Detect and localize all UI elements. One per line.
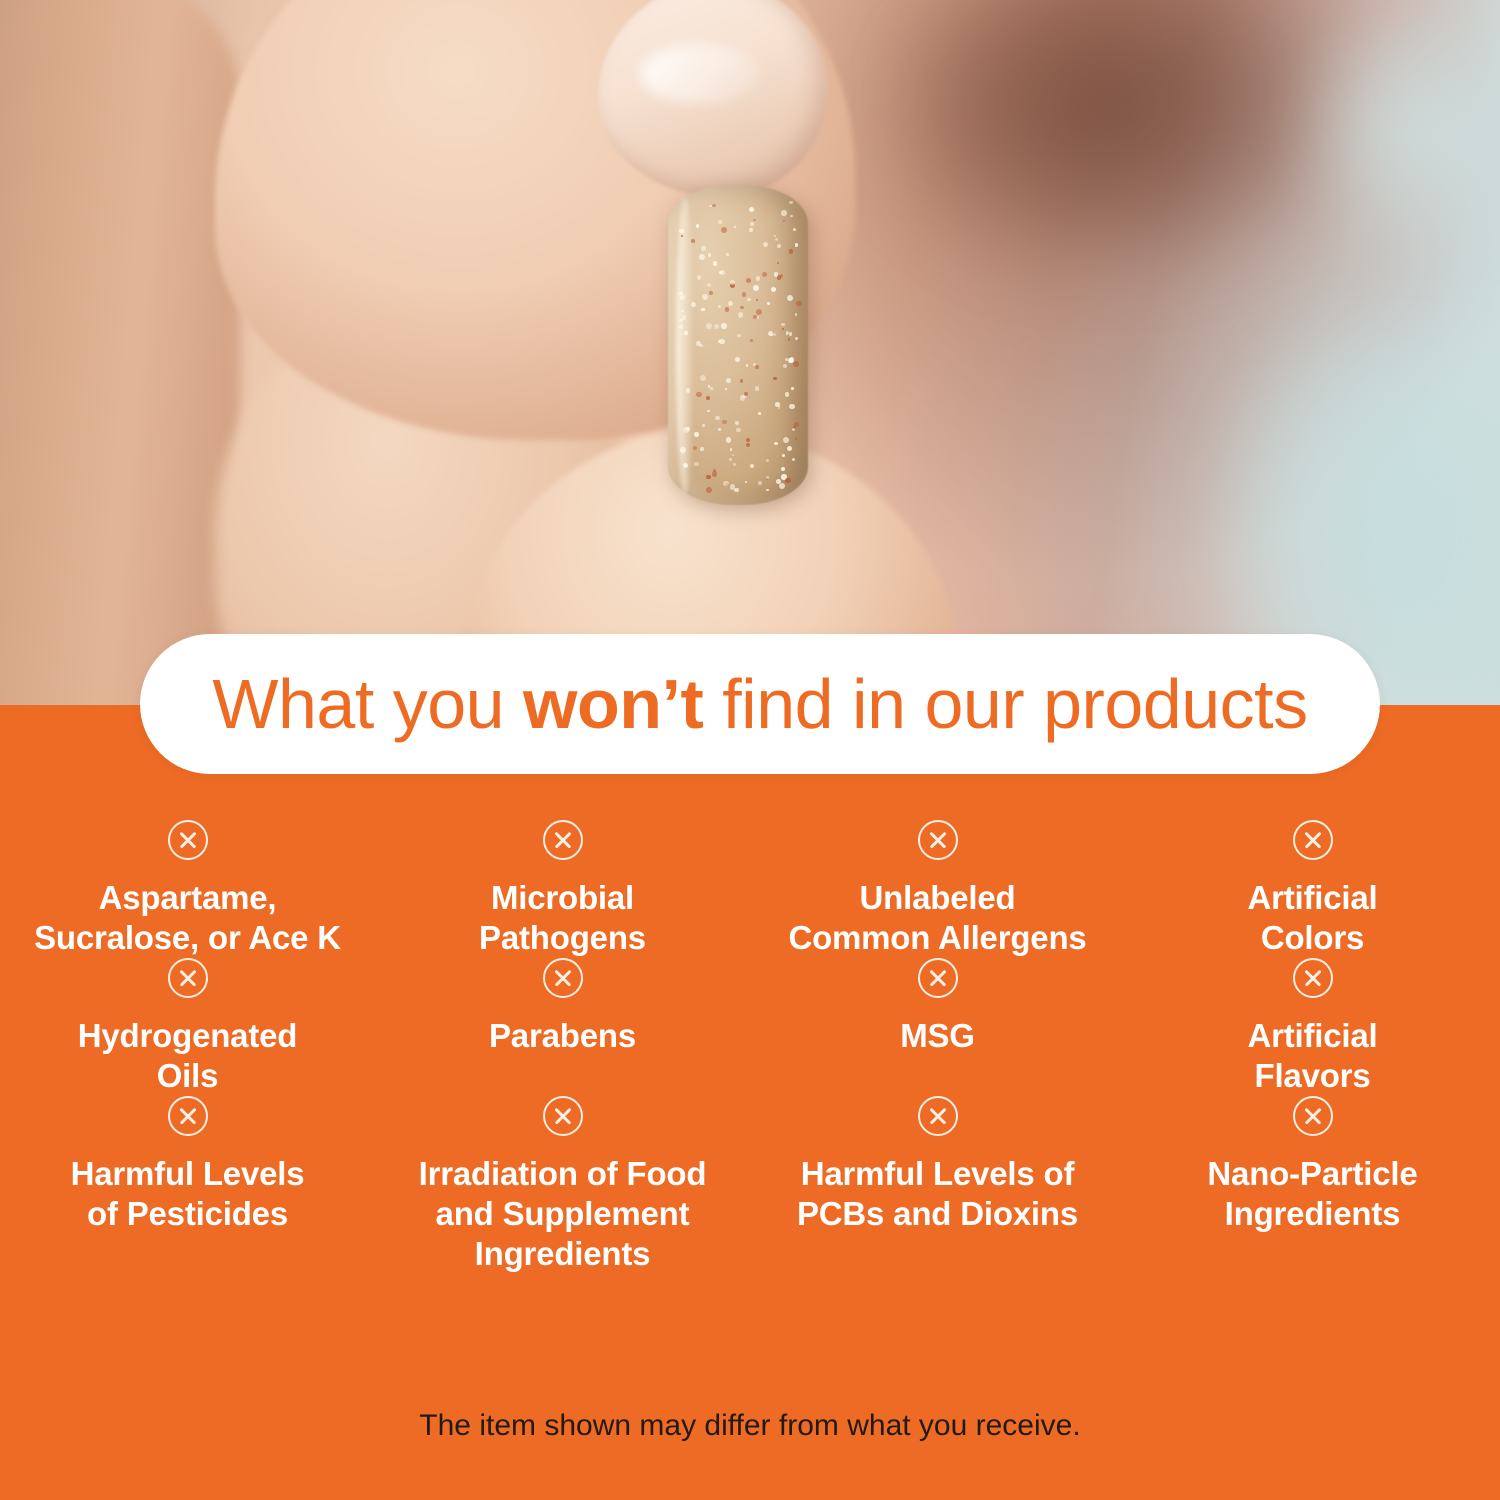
- grid-cell: Microbial Pathogens: [375, 820, 750, 958]
- background-bokeh-teal-top: [1300, 0, 1500, 260]
- circle-x-icon: [1293, 958, 1333, 998]
- circle-x-icon: [168, 1096, 208, 1136]
- grid-cell: Artificial Flavors: [1125, 958, 1500, 1096]
- photo-blur-layer: [0, 0, 1500, 710]
- grid-cell: Hydrogenated Oils: [0, 958, 375, 1096]
- grid-cell-label: Nano-Particle Ingredients: [1207, 1154, 1417, 1234]
- grid-cell: MSG: [750, 958, 1125, 1096]
- circle-x-icon: [1293, 820, 1333, 860]
- title-part-1: What you: [212, 665, 523, 743]
- grid-cell-label: Harmful Levels of PCBs and Dioxins: [797, 1154, 1078, 1234]
- grid-cell-label: Irradiation of Food and Supplement Ingre…: [419, 1154, 707, 1274]
- circle-x-icon: [543, 820, 583, 860]
- circle-x-icon: [168, 958, 208, 998]
- grid-cell-label: Parabens: [489, 1016, 636, 1056]
- page-title: What you won’t find in our products: [212, 669, 1307, 739]
- circle-x-icon: [918, 1096, 958, 1136]
- grid-cell: Irradiation of Food and Supplement Ingre…: [375, 1096, 750, 1274]
- title-part-2: find in our products: [703, 665, 1307, 743]
- circle-x-icon: [168, 820, 208, 860]
- thumbnail-highlight: [640, 44, 760, 104]
- background-bokeh-dark: [880, 0, 1340, 270]
- circle-x-icon: [918, 820, 958, 860]
- circle-x-icon: [918, 958, 958, 998]
- grid-cell-label: Hydrogenated Oils: [78, 1016, 297, 1096]
- grid-cell-label: Artificial Colors: [1247, 878, 1377, 958]
- grid-cell-label: MSG: [900, 1016, 975, 1056]
- grid-cell-label: Aspartame, Sucralose, or Ace K: [34, 878, 341, 958]
- circle-x-icon: [1293, 1096, 1333, 1136]
- grid-cell: Parabens: [375, 958, 750, 1096]
- grid-cell-label: Harmful Levels of Pesticides: [71, 1154, 305, 1234]
- grid-cell-label: Artificial Flavors: [1247, 1016, 1377, 1096]
- grid-cell: Nano-Particle Ingredients: [1125, 1096, 1500, 1274]
- circle-x-icon: [543, 958, 583, 998]
- grid-cell-label: Microbial Pathogens: [479, 878, 646, 958]
- grid-cell: Harmful Levels of Pesticides: [0, 1096, 375, 1274]
- excluded-items-grid: Aspartame, Sucralose, or Ace K Microbial…: [0, 820, 1500, 1274]
- title-emphasis: won’t: [523, 665, 703, 743]
- grid-cell: Harmful Levels of PCBs and Dioxins: [750, 1096, 1125, 1274]
- grid-cell-label: Unlabeled Common Allergens: [788, 878, 1086, 958]
- title-card: What you won’t find in our products: [140, 634, 1380, 774]
- circle-x-icon: [543, 1096, 583, 1136]
- grid-cell: Aspartame, Sucralose, or Ace K: [0, 820, 375, 958]
- grid-cell: Unlabeled Common Allergens: [750, 820, 1125, 958]
- disclaimer-text: The item shown may differ from what you …: [0, 1409, 1500, 1443]
- infographic-root: What you won’t find in our products Aspa…: [0, 0, 1500, 1500]
- product-photo: [0, 0, 1500, 710]
- grid-cell: Artificial Colors: [1125, 820, 1500, 958]
- forearm-shape: [0, 0, 240, 710]
